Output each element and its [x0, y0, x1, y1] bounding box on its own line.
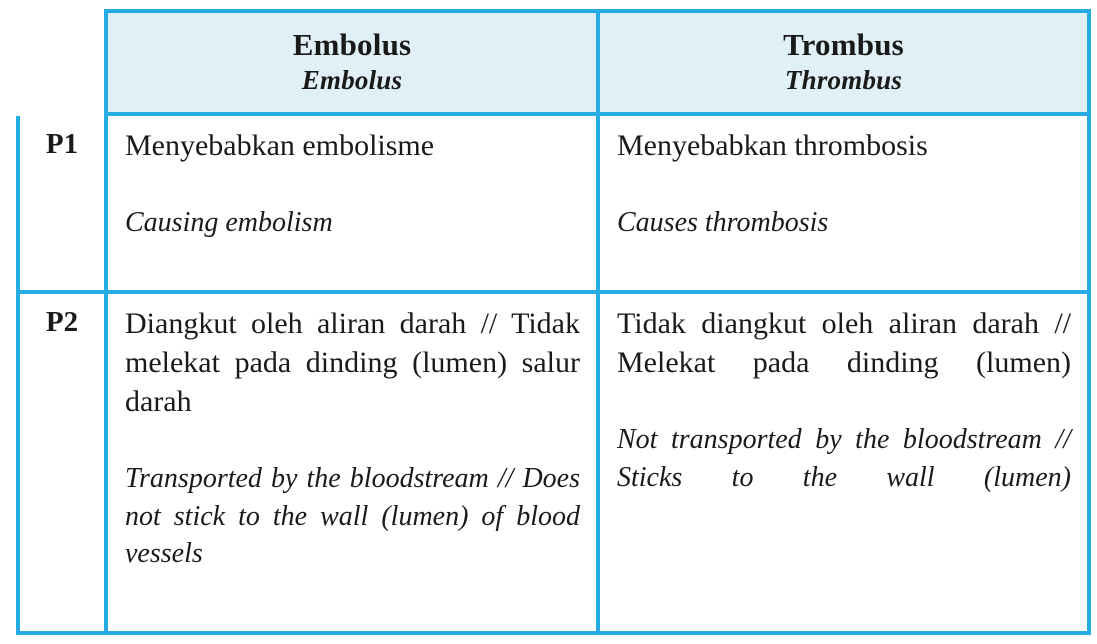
- cell-p2-embolus: Diangkut oleh aliran darah // Tidak mele…: [104, 294, 596, 635]
- column-header-trombus: Trombus Thrombus: [596, 9, 1091, 116]
- table-header: Embolus Embolus Trombus Thrombus: [16, 9, 1091, 116]
- cell-p2-trombus-ms: Tidak diangkut oleh aliran darah // Mele…: [617, 304, 1071, 421]
- cell-p1-trombus-en: Causes thrombosis: [617, 204, 1071, 278]
- column-header-embolus-ms: Embolus: [118, 27, 586, 64]
- table-body: P1 Menyebabkan embolisme Causing embolis…: [16, 116, 1091, 635]
- cell-p1-embolus-ms: Menyebabkan embolisme: [125, 126, 580, 204]
- header-row: Embolus Embolus Trombus Thrombus: [16, 9, 1091, 116]
- column-header-trombus-en: Thrombus: [610, 64, 1077, 96]
- comparison-table-page: Embolus Embolus Trombus Thrombus P1 Meny…: [0, 0, 1097, 644]
- corner-cell: [16, 9, 104, 116]
- table-row: P2 Diangkut oleh aliran darah // Tidak m…: [16, 294, 1091, 635]
- table-row: P1 Menyebabkan embolisme Causing embolis…: [16, 116, 1091, 294]
- cell-p1-trombus: Menyebabkan thrombosis Causes thrombosis: [596, 116, 1091, 294]
- cell-p2-trombus-en: Not transported by the bloodstream // St…: [617, 421, 1071, 533]
- cell-p1-embolus-en: Causing embolism: [125, 204, 580, 278]
- row-label-p2: P2: [16, 294, 104, 635]
- cell-p2-embolus-ms: Diangkut oleh aliran darah // Tidak mele…: [125, 304, 580, 460]
- cell-p1-embolus: Menyebabkan embolisme Causing embolism: [104, 116, 596, 294]
- column-header-trombus-ms: Trombus: [610, 27, 1077, 64]
- cell-p1-trombus-ms: Menyebabkan thrombosis: [617, 126, 1071, 204]
- row-label-p1: P1: [16, 116, 104, 294]
- column-header-embolus: Embolus Embolus: [104, 9, 596, 116]
- column-header-embolus-en: Embolus: [118, 64, 586, 96]
- cell-p2-embolus-en: Transported by the bloodstream // Does n…: [125, 460, 580, 609]
- cell-p2-trombus: Tidak diangkut oleh aliran darah // Mele…: [596, 294, 1091, 635]
- embolus-thrombus-comparison-table: Embolus Embolus Trombus Thrombus P1 Meny…: [16, 9, 1091, 635]
